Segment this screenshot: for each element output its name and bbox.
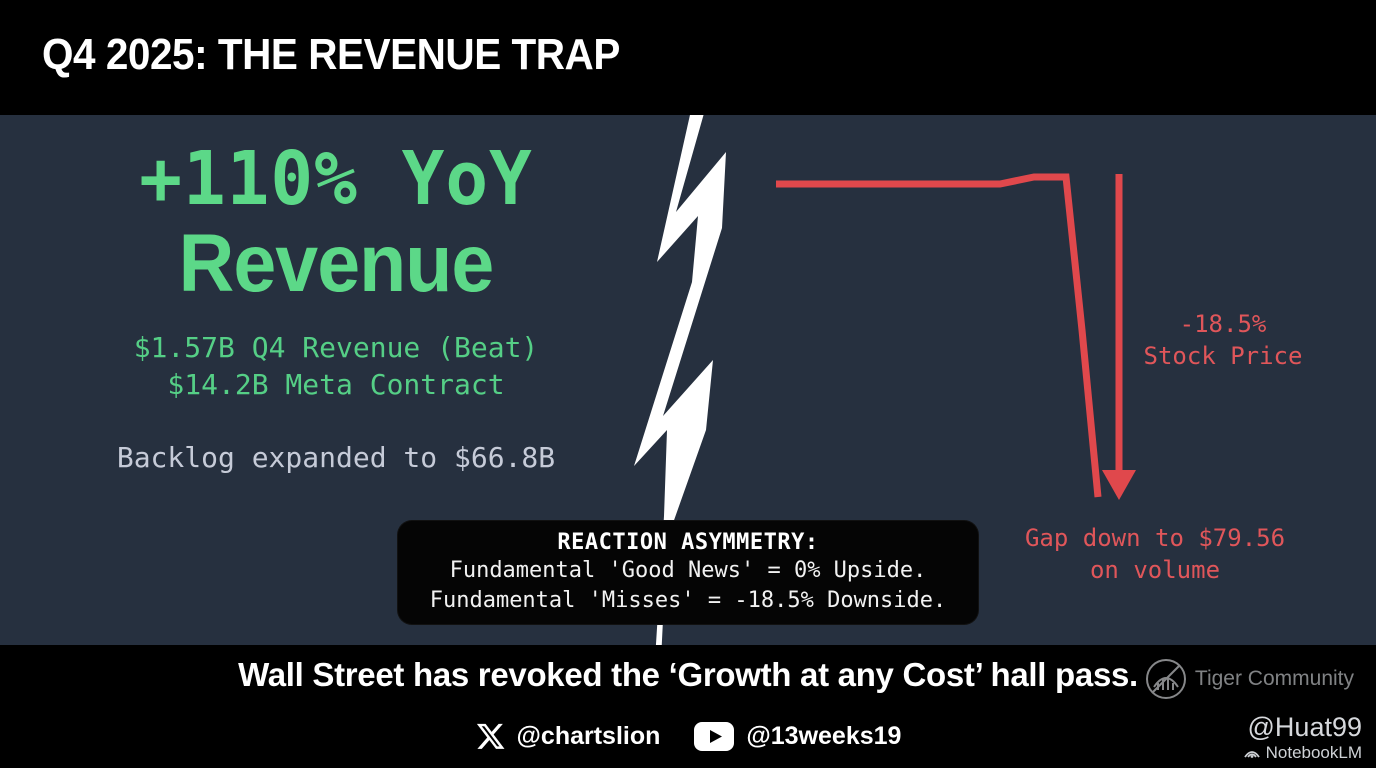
gap-price-text: Gap down to $79.56 — [1005, 522, 1305, 554]
brand-source: NotebookLM — [1243, 743, 1362, 763]
hero-metric-growth: +110% YoY — [13, 137, 658, 221]
gap-annotation: Gap down to $79.56 on volume — [1005, 522, 1305, 586]
brand-handle: @Huat99 — [1243, 713, 1362, 741]
notebooklm-icon — [1243, 746, 1261, 760]
drop-caption-text: Stock Price — [1128, 340, 1318, 372]
stock-price-chart: -18.5% Stock Price Gap down to $79.56 on… — [740, 115, 1376, 535]
x-twitter-icon[interactable] — [475, 722, 505, 752]
social-links: @chartslion @13weeks19 — [0, 705, 1376, 768]
watermark-text: Tiger Community — [1195, 667, 1354, 691]
infographic-canvas: +110% YoY Revenue $1.57B Q4 Revenue (Bea… — [0, 0, 1376, 768]
drop-percent-text: -18.5% — [1128, 308, 1318, 340]
drop-arrow-head — [1102, 470, 1136, 500]
footer-bar: @chartslion @13weeks19 @Huat99 NotebookL… — [0, 705, 1376, 768]
reaction-asymmetry-callout: REACTION ASYMMETRY: Fundamental 'Good Ne… — [398, 521, 978, 624]
brand-source-text: NotebookLM — [1266, 743, 1362, 763]
callout-line-good-news: Fundamental 'Good News' = 0% Upside. — [450, 556, 927, 586]
key-metrics-block: +110% YoY Revenue $1.57B Q4 Revenue (Bea… — [0, 137, 672, 474]
tiger-community-logo-icon — [1144, 657, 1188, 701]
supporting-metrics: $1.57B Q4 Revenue (Beat) $14.2B Meta Con… — [0, 329, 672, 403]
callout-line-misses: Fundamental 'Misses' = -18.5% Downside. — [430, 586, 947, 616]
social-youtube-handle[interactable]: @13weeks19 — [746, 722, 901, 751]
page-title: Q4 2025: THE REVENUE TRAP — [42, 30, 620, 80]
kicker-bar: Wall Street has revoked the ‘Growth at a… — [0, 645, 1376, 705]
social-x-link[interactable]: @chartslion — [475, 722, 661, 752]
social-x-handle[interactable]: @chartslion — [517, 722, 661, 751]
metric-backlog: Backlog expanded to $66.8B — [0, 441, 672, 474]
brand-credit: @Huat99 NotebookLM — [1243, 713, 1362, 763]
drop-annotation: -18.5% Stock Price — [1128, 308, 1318, 372]
callout-title: REACTION ASYMMETRY: — [557, 530, 818, 556]
metric-meta-contract: $14.2B Meta Contract — [0, 366, 672, 403]
watermark: Tiger Community — [1144, 657, 1354, 701]
hero-metric-label: Revenue — [20, 221, 652, 307]
social-youtube-link[interactable]: @13weeks19 — [694, 722, 901, 751]
youtube-icon[interactable] — [694, 722, 734, 751]
header-bar: Q4 2025: THE REVENUE TRAP — [0, 0, 1376, 115]
metric-q4-revenue: $1.57B Q4 Revenue (Beat) — [0, 329, 672, 366]
price-line — [776, 177, 1098, 497]
gap-volume-text: on volume — [1005, 554, 1305, 586]
